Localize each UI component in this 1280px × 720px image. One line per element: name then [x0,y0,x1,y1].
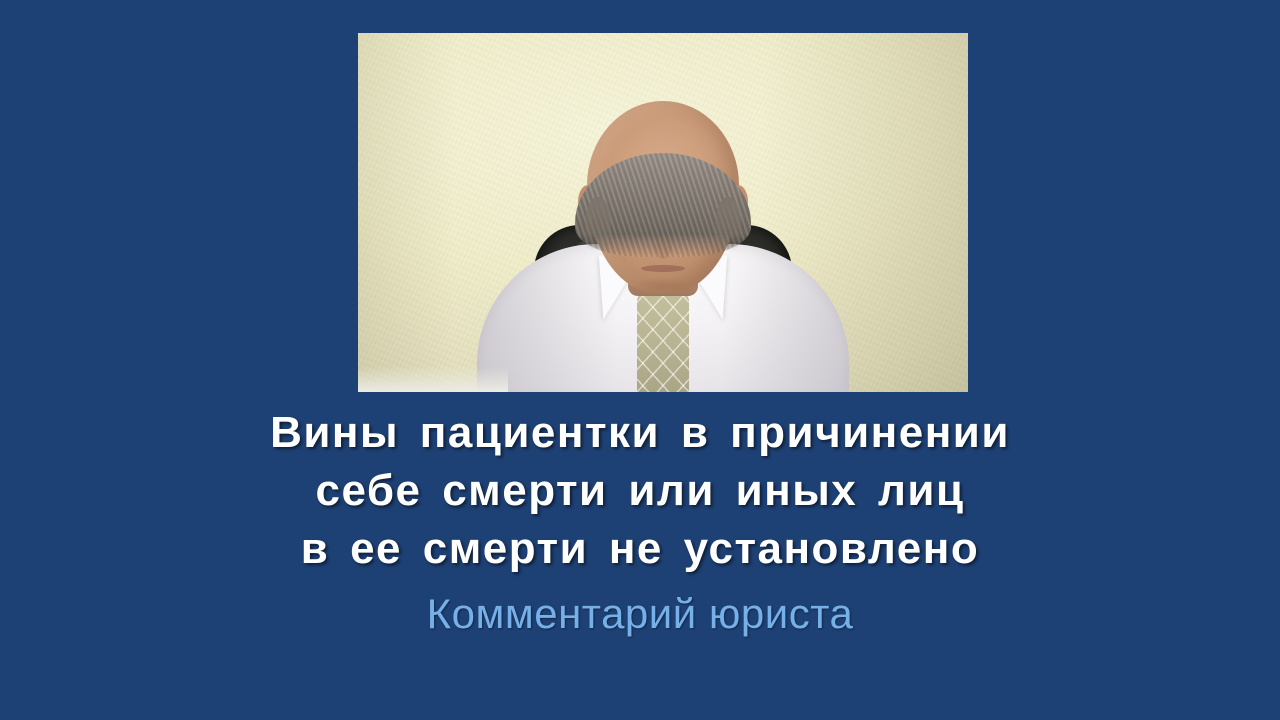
subtitle: Комментарий юриста [0,588,1280,640]
speaker-photo [358,33,968,392]
mouth [641,265,685,272]
title-line-2: себе смерти или иных лиц [0,462,1280,520]
hair-side-right [715,197,741,251]
caption-block: Вины пациентки в причинении себе смерти … [0,404,1280,640]
title-line-3: в ее смерти не установлено [0,520,1280,578]
person-head [587,101,739,293]
video-thumbnail: Вины пациентки в причинении себе смерти … [0,0,1280,720]
title-line-1: Вины пациентки в причинении [0,404,1280,462]
chin-shadow [631,277,695,295]
wall-shadow-left [358,33,456,392]
hair-side-left [585,197,611,251]
photo-background-wall [358,33,968,392]
desk-edge [358,366,508,392]
